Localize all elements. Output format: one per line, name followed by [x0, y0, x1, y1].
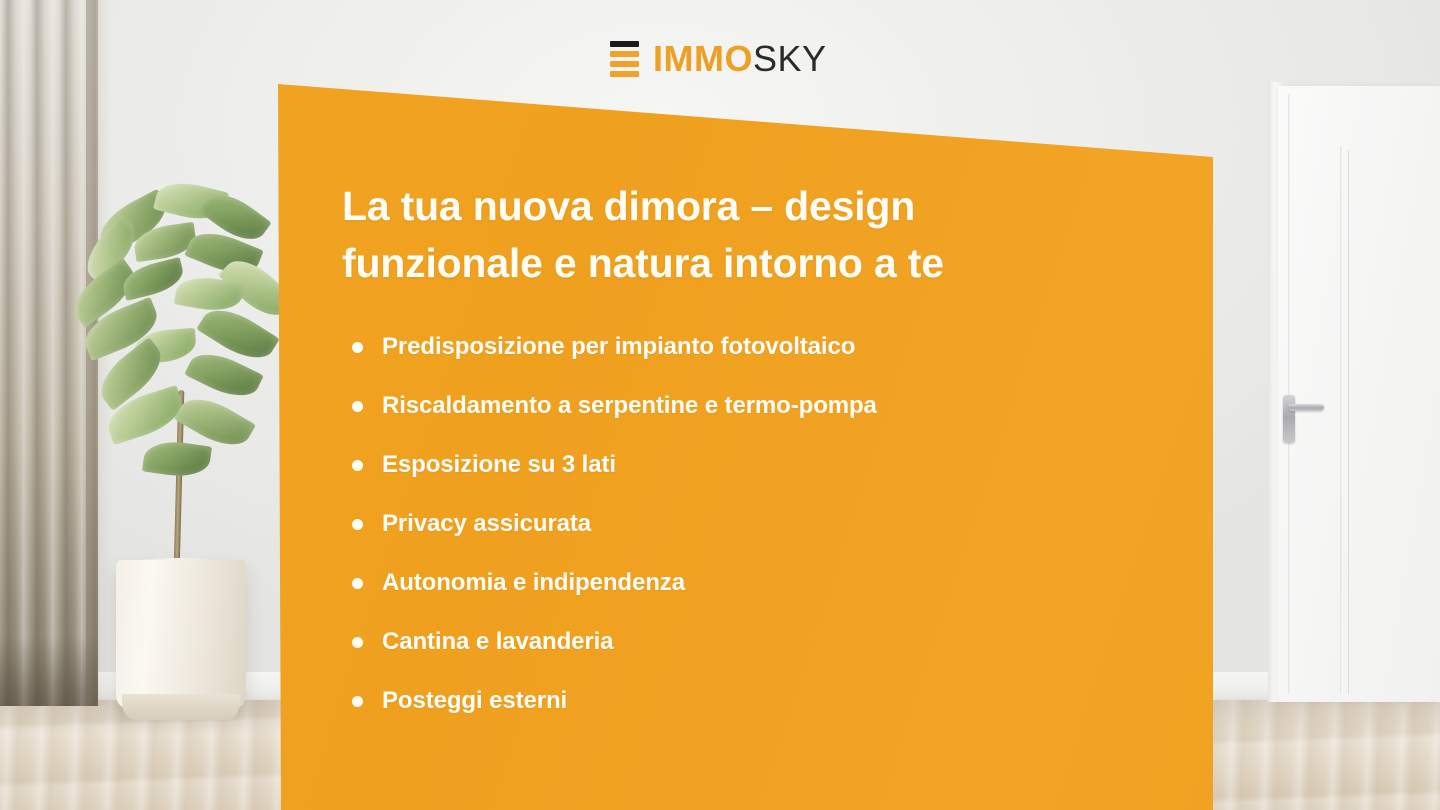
- planter-base: [122, 694, 240, 720]
- slide-canvas: IMMO SKY La tua nuova dimora – design fu…: [0, 0, 1440, 810]
- list-item: Privacy assicurata: [342, 512, 1102, 536]
- door-groove-left: [1288, 94, 1291, 694]
- list-item: Autonomia e indipendenza: [342, 571, 1102, 595]
- page-title: La tua nuova dimora – design funzionale …: [342, 178, 1062, 291]
- logo-bar-4: [610, 71, 639, 77]
- potted-plant: [60, 160, 290, 760]
- list-item: Riscaldamento a serpentine e termo-pompa: [342, 394, 1102, 418]
- list-item: Cantina e lavanderia: [342, 630, 1102, 654]
- plant-leaf: [142, 438, 212, 481]
- list-item: Posteggi esterni: [342, 689, 1102, 713]
- planter: [116, 560, 246, 708]
- logo-bar-1: [610, 41, 639, 47]
- panel-content: La tua nuova dimora – design funzionale …: [342, 178, 1102, 713]
- brand-logo[interactable]: IMMO SKY: [610, 40, 827, 77]
- stacked-bars-icon: [610, 40, 639, 77]
- door-panel-line: [1348, 150, 1434, 694]
- logo-bar-2: [610, 51, 639, 57]
- door-groove-right: [1340, 146, 1343, 694]
- door-handle-plate-icon: [1283, 395, 1295, 443]
- logo-wordmark: IMMO SKY: [653, 41, 827, 77]
- logo-text-secondary: SKY: [753, 41, 827, 77]
- logo-bar-3: [610, 61, 639, 67]
- list-item: Predisposizione per impianto fotovoltaic…: [342, 335, 1102, 359]
- list-item: Esposizione su 3 lati: [342, 453, 1102, 477]
- logo-text-primary: IMMO: [653, 41, 753, 77]
- feature-list: Predisposizione per impianto fotovoltaic…: [342, 335, 1102, 713]
- door-handle-lever-icon: [1288, 404, 1324, 411]
